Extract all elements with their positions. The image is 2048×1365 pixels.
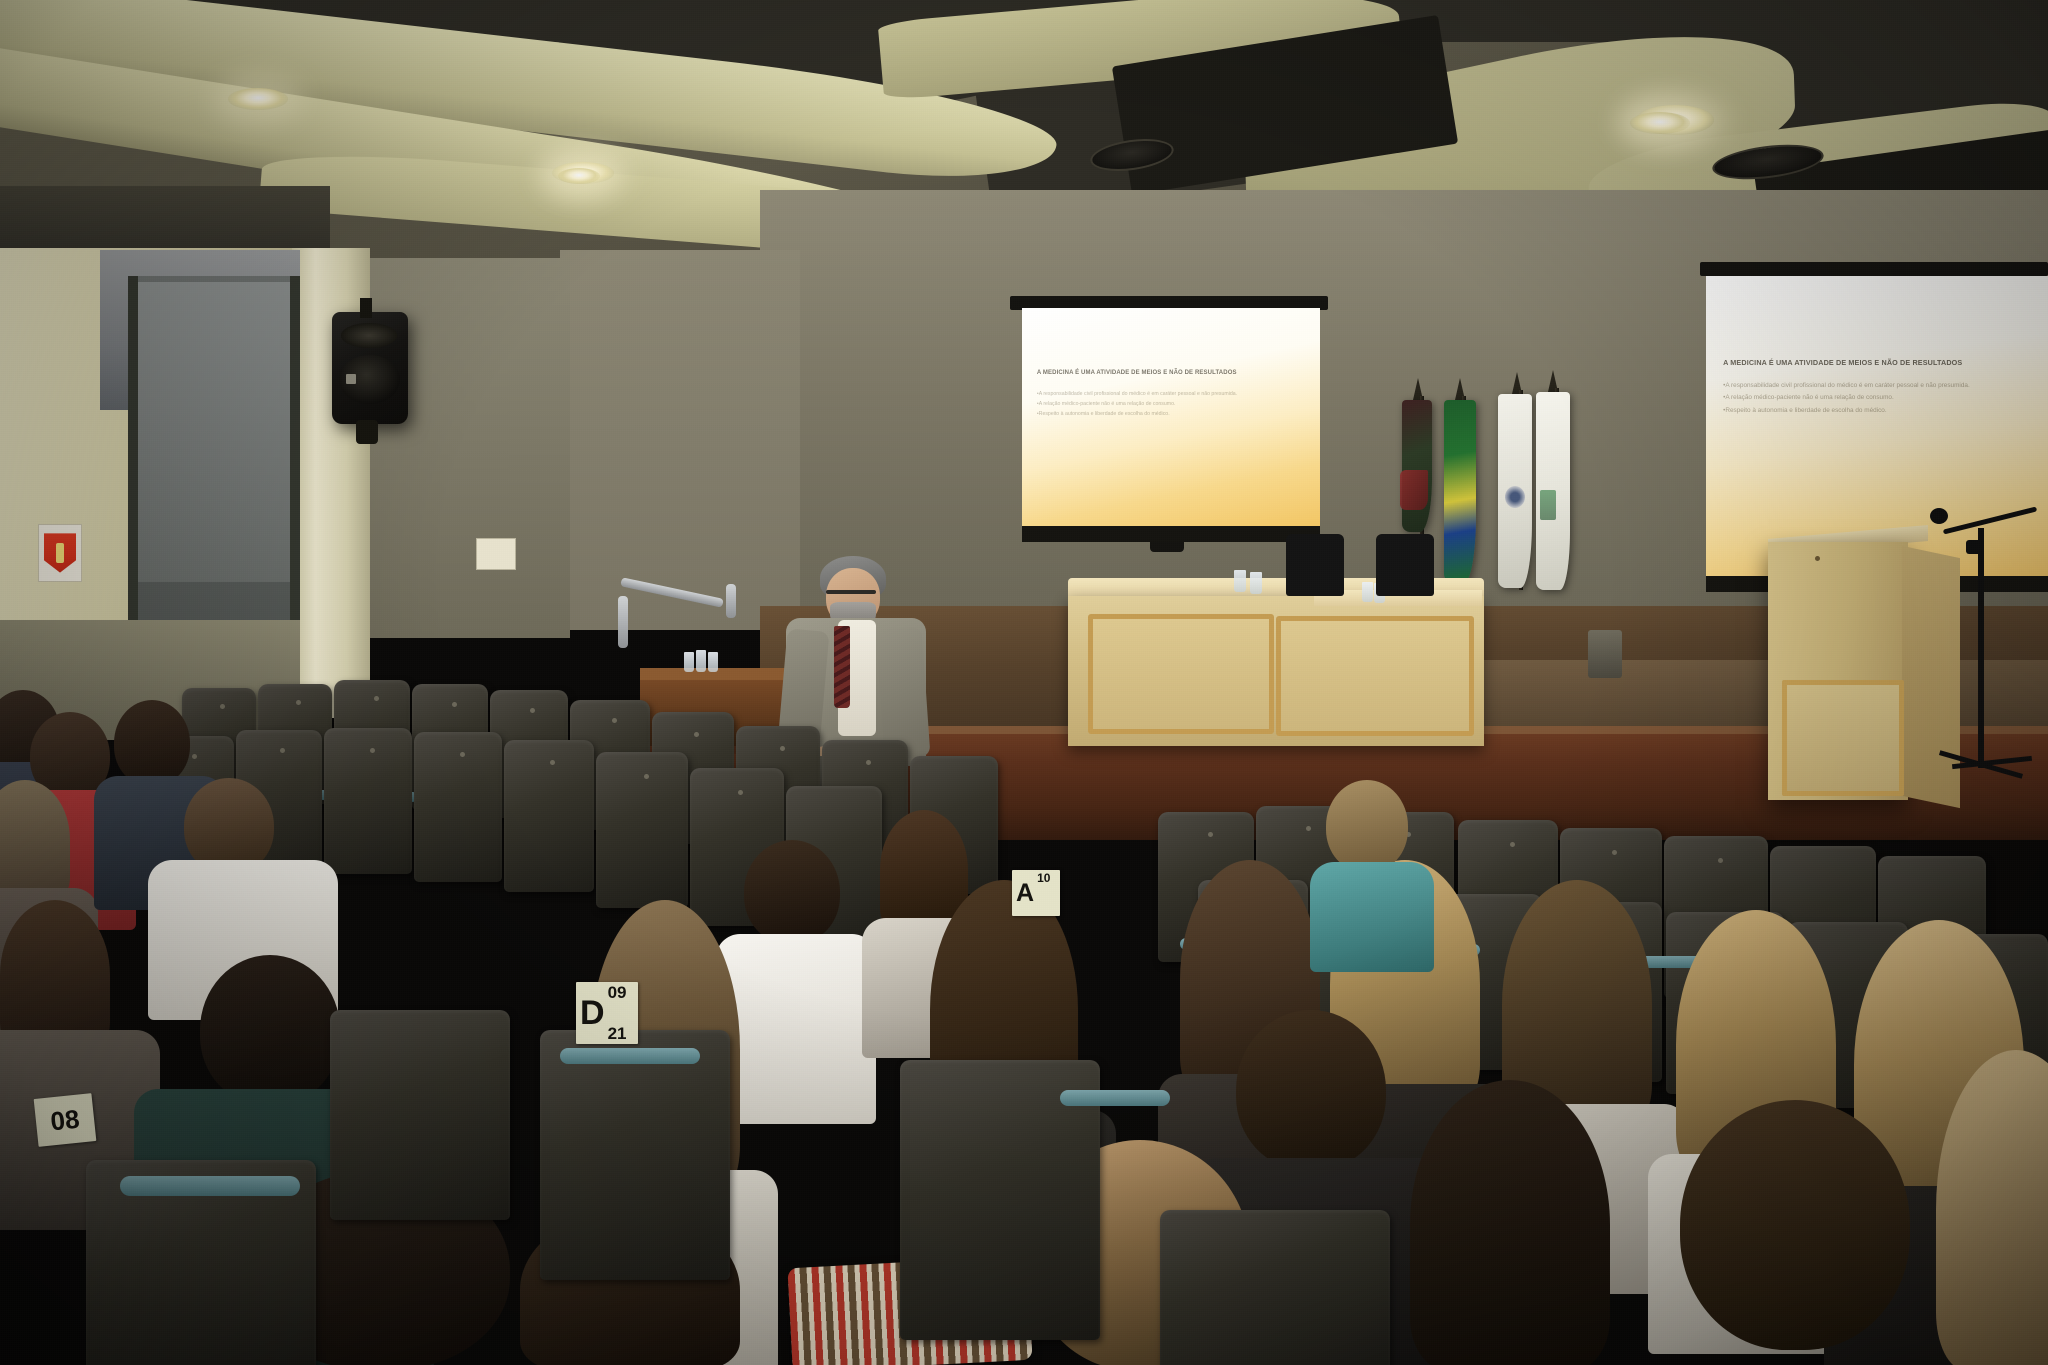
- ceiling-downlight-1: [228, 88, 288, 110]
- alcove-inner: [138, 282, 290, 582]
- center-screen-weight: [1150, 542, 1184, 552]
- side-table-bottle-1: [684, 652, 694, 672]
- seat[interactable]: [324, 728, 412, 874]
- person-torso: [1310, 862, 1434, 972]
- stage-handrail-post: [618, 596, 628, 648]
- wall-notice-sign: [476, 538, 516, 570]
- seat[interactable]: [414, 732, 502, 882]
- seat-plate-letter: A: [1012, 881, 1034, 906]
- center-slide-bullet-1: •A responsabilidade civil profissional d…: [1037, 390, 1305, 398]
- stage-chair-2: [1376, 534, 1434, 596]
- seat[interactable]: [504, 740, 594, 892]
- person-torso: [716, 934, 876, 1124]
- flag-institution-1-emblem: [1505, 486, 1525, 508]
- flag-dark-red: [1402, 400, 1432, 532]
- ceiling-downlight-5: [1630, 112, 1690, 134]
- head-table-panel-left: [1088, 614, 1274, 734]
- trash-bin: [1588, 630, 1622, 678]
- water-glass-2: [1250, 572, 1262, 594]
- seat[interactable]: [540, 1030, 730, 1280]
- mic-stand-clamp: [1966, 540, 1982, 554]
- seat-plate-number-bottom: 21: [608, 1025, 627, 1042]
- person-hair: [1236, 1010, 1386, 1170]
- side-table-bottle-2: [696, 650, 706, 672]
- right-slide-title: A MEDICINA É UMA ATIVIDADE DE MEIOS E NÃ…: [1723, 358, 2034, 367]
- seat-rail: [1060, 1090, 1170, 1106]
- presenter-glasses: [826, 590, 876, 594]
- right-slide-bullet-1: •A responsabilidade civil profissional d…: [1723, 381, 2034, 391]
- person-hair: [744, 840, 840, 944]
- water-glass-1: [1234, 570, 1246, 592]
- flag-brazil: [1444, 400, 1476, 582]
- person-hair: [1326, 780, 1408, 872]
- seat-plate-a: A 10: [1012, 870, 1060, 916]
- seat[interactable]: [596, 752, 688, 908]
- center-slide-bullet-2: •A relação médico-paciente não é uma rel…: [1037, 400, 1305, 408]
- seat-rail: [560, 1048, 700, 1064]
- flag-institution-2-emblem: [1540, 490, 1556, 520]
- side-table-bottle-3: [708, 652, 718, 672]
- right-screen-housing: [1700, 262, 2048, 276]
- person-hair: [0, 900, 110, 1050]
- seat-plate-d: D 09 21: [576, 982, 638, 1044]
- right-slide-bullet-2: •A relação médico-paciente não é uma rel…: [1723, 393, 2034, 403]
- stage-chair-1: [1286, 534, 1344, 596]
- flag-dark-red-fold: [1400, 470, 1428, 510]
- water-glass-3: [1362, 582, 1373, 602]
- right-slide-body: •A responsabilidade civil profissional d…: [1723, 381, 2034, 416]
- mic-stand-pole: [1978, 528, 1984, 768]
- lectern-front-panel: [1782, 680, 1904, 796]
- lectern-screw: [1815, 556, 1820, 561]
- center-slide-title: A MEDICINA É UMA ATIVIDADE DE MEIOS E NÃ…: [1037, 370, 1305, 376]
- side-wall-mid: [560, 250, 800, 630]
- pa-speaker: [332, 312, 408, 424]
- center-projection-screen: A MEDICINA É UMA ATIVIDADE DE MEIOS E NÃ…: [1022, 308, 1320, 526]
- ceiling-downlight-6: [558, 168, 600, 184]
- seat[interactable]: [330, 1010, 510, 1220]
- seat-plate-letter: D: [576, 996, 605, 1030]
- person-hair: [1410, 1080, 1610, 1365]
- center-slide-bullet-3: •Respeito à autonomia e liberdade de esc…: [1037, 410, 1305, 418]
- seat[interactable]: [1160, 1210, 1390, 1365]
- lectern-side: [1902, 546, 1960, 808]
- person-hair: [114, 700, 190, 786]
- fire-extinguisher-sign: [38, 524, 82, 582]
- presenter-tie: [834, 626, 850, 708]
- seat-plate-number-top: 10: [1037, 872, 1050, 884]
- stage-handrail-post-2: [726, 584, 736, 618]
- seat-rail: [120, 1176, 300, 1196]
- right-slide-bullet-3: •Respeito à autonomia e liberdade de esc…: [1723, 406, 2034, 416]
- head-table-panel-right: [1276, 616, 1474, 736]
- microphone-head: [1930, 508, 1948, 524]
- seat-plate-number-top: 09: [608, 984, 627, 1001]
- center-slide-body: •A responsabilidade civil profissional d…: [1037, 390, 1305, 418]
- left-wall-top-shadow: [0, 186, 330, 248]
- seat-plate-number: 08: [49, 1106, 80, 1135]
- center-screen-bottom-bar: [1022, 526, 1320, 542]
- person-hair: [200, 955, 340, 1105]
- pa-speaker-mount: [356, 420, 378, 444]
- pa-speaker-bracket: [360, 298, 372, 318]
- auditorium-photo: A MEDICINA É UMA ATIVIDADE DE MEIOS E NÃ…: [0, 0, 2048, 1365]
- person-hair: [1680, 1100, 1910, 1350]
- seat-plate-08: 08: [34, 1093, 97, 1147]
